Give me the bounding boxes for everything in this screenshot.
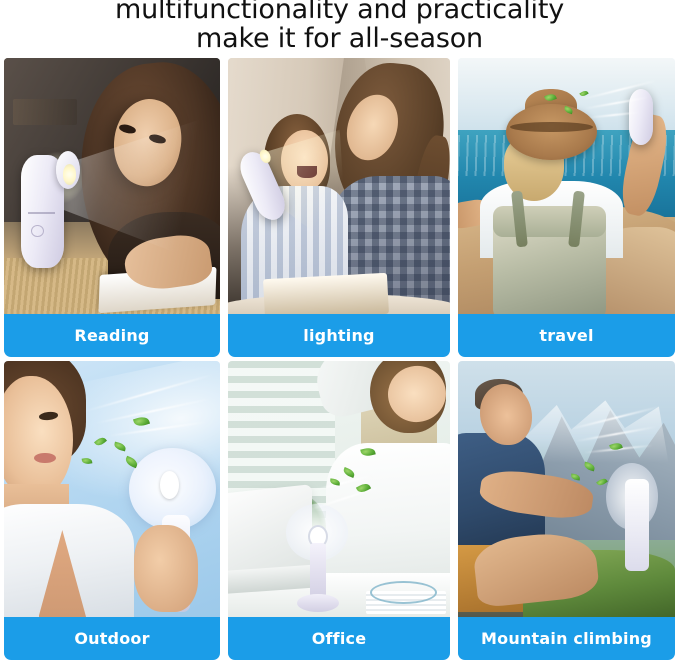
- scenario-tile-outdoor[interactable]: Outdoor: [4, 361, 220, 660]
- scenario-tile-reading[interactable]: Reading: [4, 58, 220, 357]
- scenario-tile-travel[interactable]: travel: [458, 58, 675, 357]
- product-feature-infographic: multifunctionality and practicality make…: [0, 0, 679, 664]
- scenario-caption-lighting: lighting: [228, 314, 450, 357]
- scenario-photo-travel: [458, 58, 675, 314]
- scenario-caption-mountain-climbing: Mountain climbing: [458, 617, 675, 660]
- scenario-caption-office: Office: [228, 617, 450, 660]
- scenario-grid: Reading: [4, 58, 675, 660]
- page-title: multifunctionality and practicality make…: [0, 0, 679, 53]
- scene-woman-relaxing-at-desk: [228, 361, 450, 617]
- scene-woman-with-handheld-fan-blue-sky: [4, 361, 220, 617]
- scene-hiker-resting-on-mountain: [458, 361, 675, 617]
- scenario-photo-reading: [4, 58, 220, 314]
- scene-mother-and-child-in-tent: [228, 58, 450, 314]
- scene-girl-reading-with-lamp: [4, 58, 220, 314]
- scenario-caption-reading: Reading: [4, 314, 220, 357]
- handheld-fan-light-device: [21, 155, 64, 268]
- scenario-tile-office[interactable]: Office: [228, 361, 450, 660]
- scenario-photo-lighting: [228, 58, 450, 314]
- headline-line-1: multifunctionality and practicality: [0, 0, 679, 24]
- scenario-photo-outdoor: [4, 361, 220, 617]
- scenario-photo-office: [228, 361, 450, 617]
- scenario-tile-mountain-climbing[interactable]: Mountain climbing: [458, 361, 675, 660]
- scenario-caption-travel: travel: [458, 314, 675, 357]
- headline-line-2: make it for all-season: [0, 24, 679, 53]
- scenario-caption-outdoor: Outdoor: [4, 617, 220, 660]
- scene-woman-at-seaside-with-backpack: [458, 58, 675, 314]
- scenario-photo-mountain-climbing: [458, 361, 675, 617]
- scenario-tile-lighting[interactable]: lighting: [228, 58, 450, 357]
